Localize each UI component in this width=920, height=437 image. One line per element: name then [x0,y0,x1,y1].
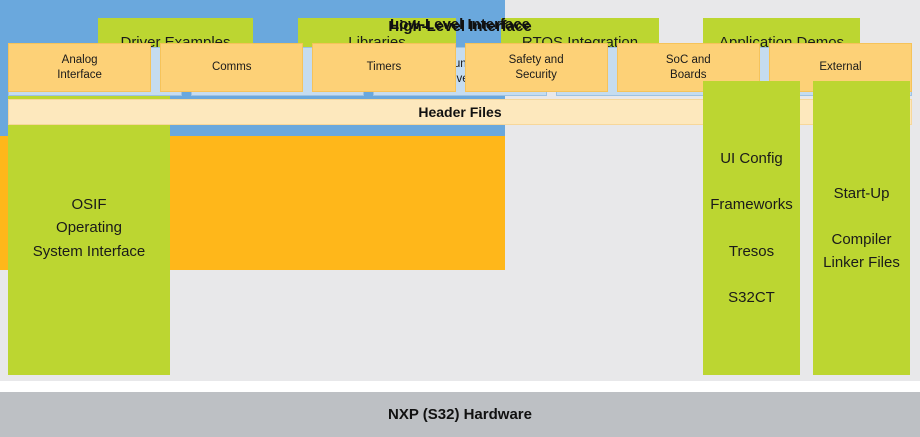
box-label: Safety and Security [509,53,564,82]
architecture-diagram: Driver Examples Libraries RTOS Integrati… [0,0,920,437]
box-safety-and-security[interactable]: Safety and Security [465,43,608,92]
panel-low-level-title: Low-Level Interface [0,16,920,33]
hardware-separator [0,381,920,392]
hardware-label: NXP (S32) Hardware [388,406,532,423]
box-label: Timers [367,60,402,74]
box-label: Analog Interface [57,53,102,82]
column-tooling[interactable]: UI Config Frameworks Tresos S32CT [703,81,800,375]
column-tooling-label: UI Config Frameworks Tresos S32CT [710,147,793,310]
header-files-label: Header Files [418,104,501,120]
box-label: Comms [212,60,252,74]
column-osif-label: OSIF Operating System Interface [33,193,146,263]
box-label: SoC and Boards [666,53,711,82]
column-build-files[interactable]: Start-Up Compiler Linker Files [813,81,910,375]
column-build-files-label: Start-Up Compiler Linker Files [823,182,900,275]
box-timers[interactable]: Timers [312,43,455,92]
bar-nxp-hardware[interactable]: NXP (S32) Hardware [0,392,920,437]
box-comms[interactable]: Comms [160,43,303,92]
column-osif[interactable]: OSIF Operating System Interface [8,81,170,375]
box-label: External [819,60,861,74]
box-analog-interface[interactable]: Analog Interface [8,43,151,92]
